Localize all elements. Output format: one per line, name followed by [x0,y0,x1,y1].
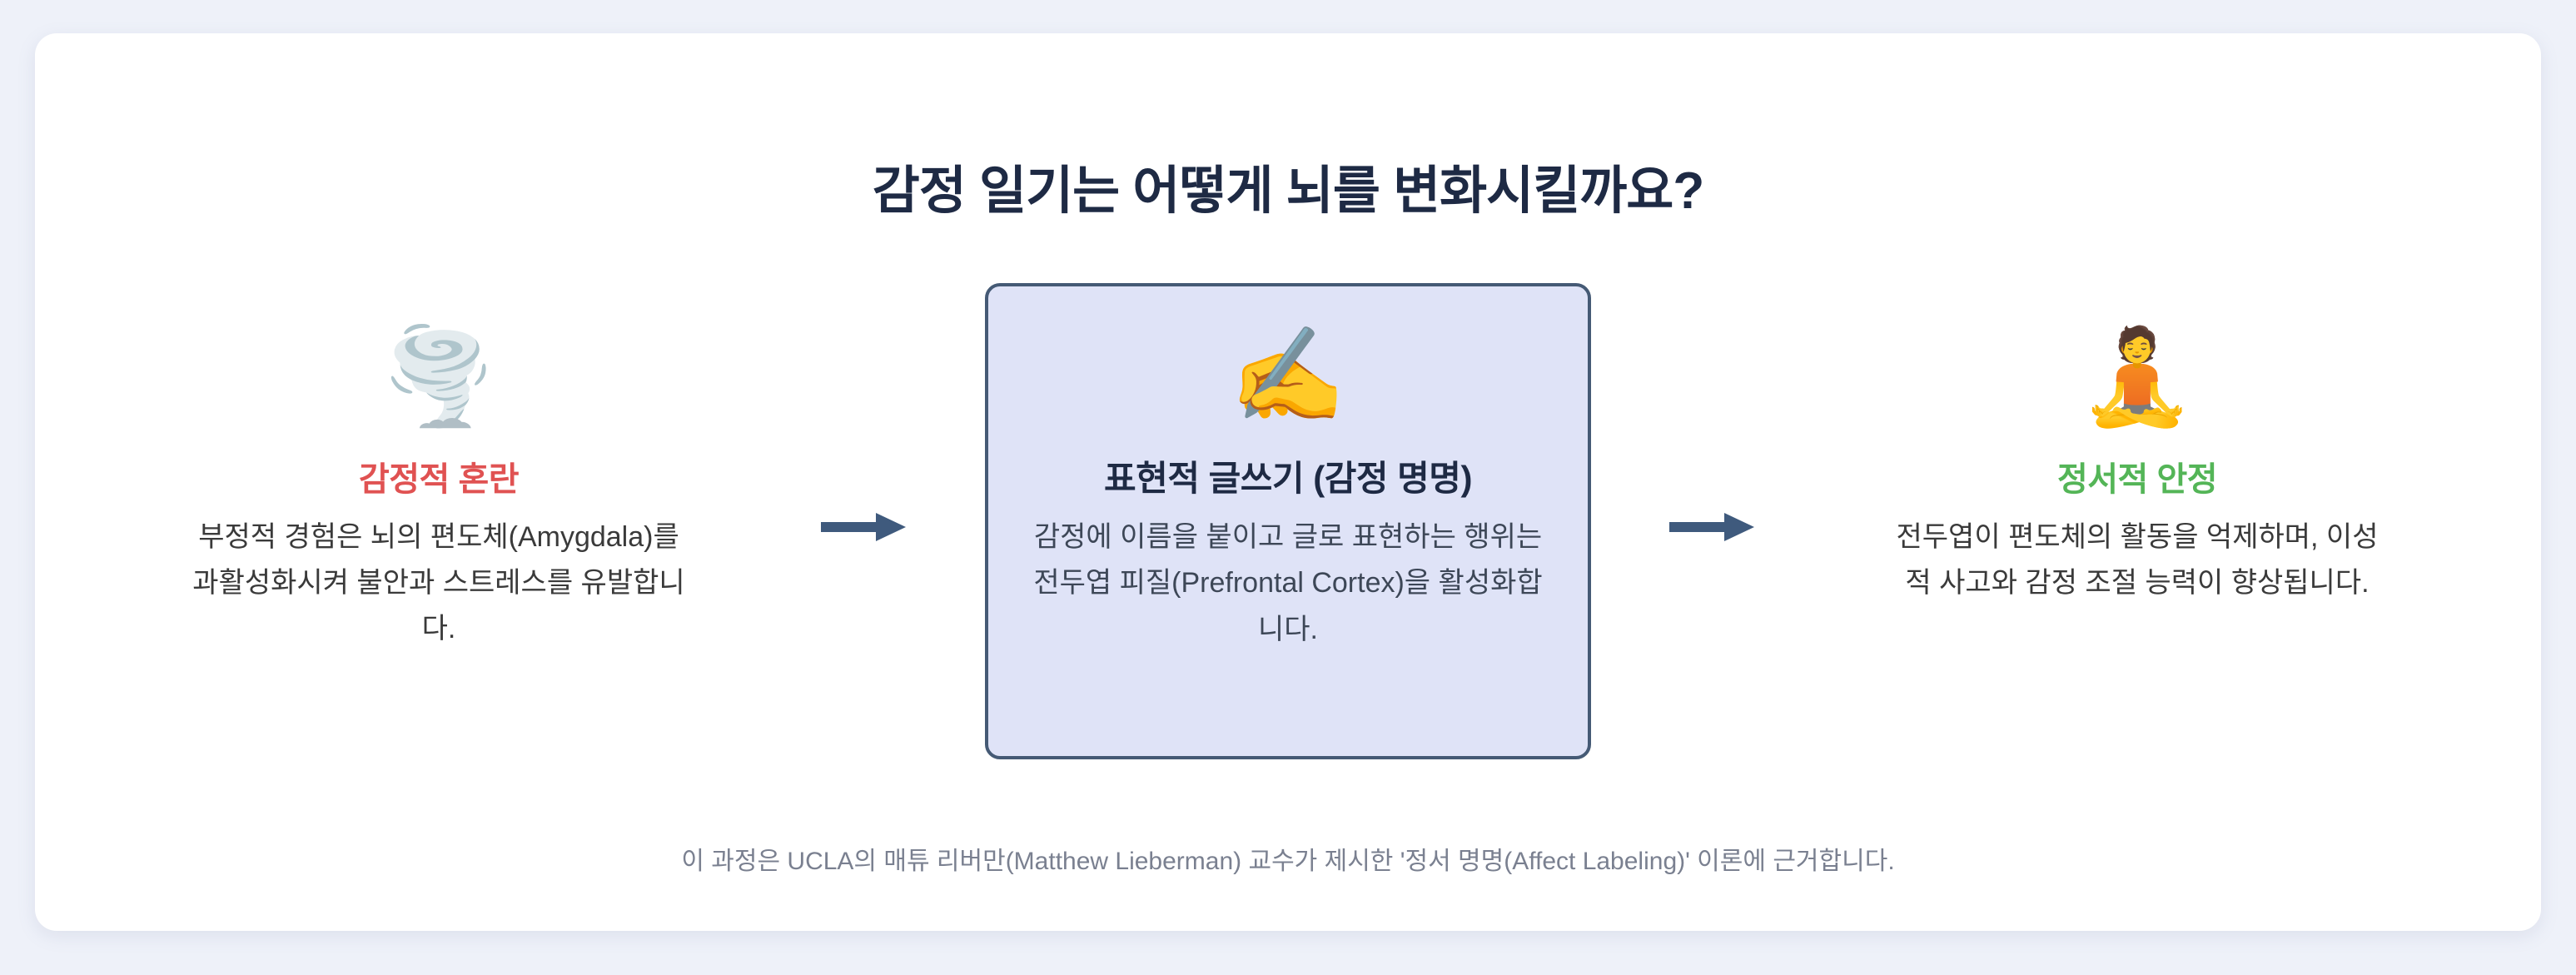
stage-body-emotional-stability: 전두엽이 편도체의 활동을 억제하며, 이성적 사고와 감정 조절 능력이 향상… [1883,515,2391,606]
source-footnote: 이 과정은 UCLA의 매튜 리버만(Matthew Lieberman) 교수… [35,843,2541,880]
stage-heading-expressive-writing: 표현적 글쓰기 (감정 명명) [1104,458,1472,500]
stage-expressive-writing: ✍️ 표현적 글쓰기 (감정 명명) 감정에 이름을 붙이고 글로 표현하는 행… [985,283,1591,759]
stage-heading-emotional-turmoil: 감정적 혼란 [359,460,519,500]
process-flow: 🌪️ 감정적 혼란 부정적 경험은 뇌의 편도체(Amygdala)를 과활성화… [135,283,2441,799]
stage-emotional-turmoil: 🌪️ 감정적 혼란 부정적 경험은 뇌의 편도체(Amygdala)를 과활성화… [135,283,743,652]
person-in-lotus-position-icon: 🧘 [2079,323,2195,431]
stage-body-emotional-turmoil: 부정적 경험은 뇌의 편도체(Amygdala)를 과활성화시켜 불안과 스트레… [185,515,693,652]
tornado-icon: 🌪️ [380,323,496,431]
page-title: 감정 일기는 어떻게 뇌를 변화시킬까요? [35,162,2541,221]
arrow-right-icon-1 [802,501,927,553]
stage-emotional-stability: 🧘 정서적 안정 전두엽이 편도체의 활동을 억제하며, 이성적 사고와 감정 … [1833,283,2441,606]
stage-heading-emotional-stability: 정서적 안정 [2057,460,2217,500]
infographic-panel: 감정 일기는 어떻게 뇌를 변화시킬까요? 🌪️ 감정적 혼란 부정적 경험은 … [35,33,2541,931]
arrow-right-icon-2 [1650,501,1775,553]
stage-body-expressive-writing: 감정에 이름을 붙이고 글로 표현하는 행위는 전두엽 피질(Prefronta… [1022,515,1554,652]
writing-hand-icon: ✍️ [1230,321,1345,430]
